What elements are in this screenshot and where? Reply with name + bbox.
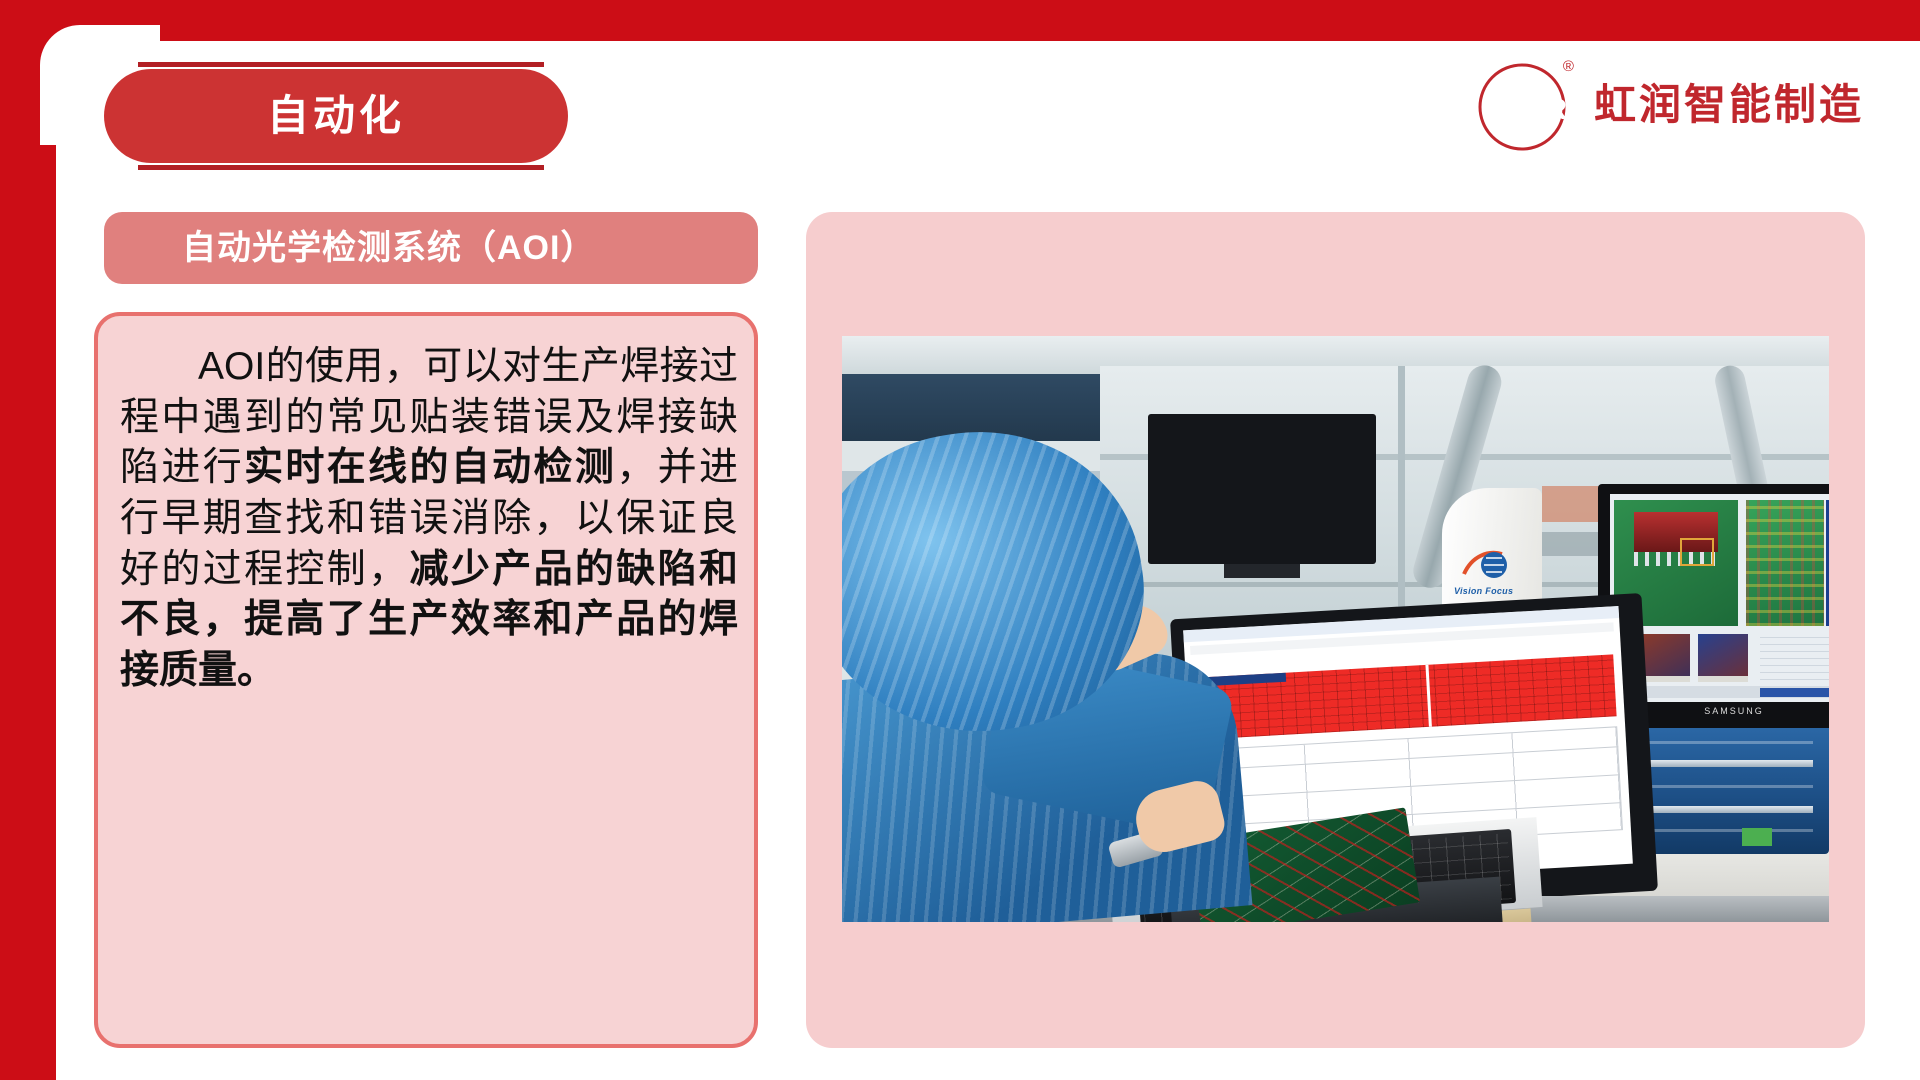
photo-background-monitor: [1148, 414, 1376, 564]
aoi-status-indicator: [1742, 828, 1772, 846]
aoi-sw-selection-box: [1680, 538, 1714, 566]
frame-top-bar: [0, 0, 1920, 41]
title-rule-bottom: [138, 165, 544, 170]
section-title-block: 自动化: [104, 62, 568, 170]
subtitle-text: 自动光学检测系统（AOI）: [104, 231, 595, 265]
brand-logo: HR ® 虹润智能制造: [1476, 62, 1864, 148]
svg-text:HR: HR: [1525, 94, 1567, 126]
section-title-pill: 自动化: [104, 69, 568, 163]
aoi-machine-brand-text: Vision Focus: [1454, 586, 1540, 596]
aoi-sw-thumbnail-2: [1698, 634, 1748, 680]
photo-background-monitor-stand: [1224, 564, 1300, 578]
aoi-sw-thumbnail-1: [1640, 634, 1690, 680]
aoi-sw-defect-list: [1760, 634, 1829, 680]
registered-mark-icon: ®: [1563, 59, 1574, 74]
aoi-sw-blue-sidebar: [1826, 500, 1829, 626]
aoi-workstation-photo: Vision Focus SAMSUNG: [842, 336, 1829, 922]
photo-panel: Vision Focus SAMSUNG: [806, 212, 1865, 1048]
brand-name-text: 虹润智能制造: [1594, 84, 1864, 126]
frame-left-bar: [0, 0, 56, 1080]
op-sw-red-table-grid: [1196, 654, 1617, 739]
hr-circle-icon: HR ®: [1476, 59, 1568, 151]
body-text-card: AOI的使用，可以对生产焊接过程中遇到的常见贴装错误及焊接缺陷进行实时在线的自动…: [94, 312, 758, 1048]
title-rule-top: [138, 62, 544, 67]
subtitle-bar: 自动光学检测系统（AOI）: [104, 212, 758, 284]
aoi-sw-thumbnail-2-base: [1698, 676, 1748, 682]
aoi-sw-thumbnail-1-base: [1640, 676, 1690, 682]
section-title-text: 自动化: [267, 95, 405, 137]
aoi-sw-progress-bar: [1760, 688, 1829, 697]
body-paragraph: AOI的使用，可以对生产焊接过程中遇到的常见贴装错误及焊接缺陷进行实时在线的自动…: [120, 342, 738, 697]
aoi-sw-board-pads: [1746, 500, 1824, 626]
vision-focus-swirl-icon: [1462, 548, 1508, 582]
